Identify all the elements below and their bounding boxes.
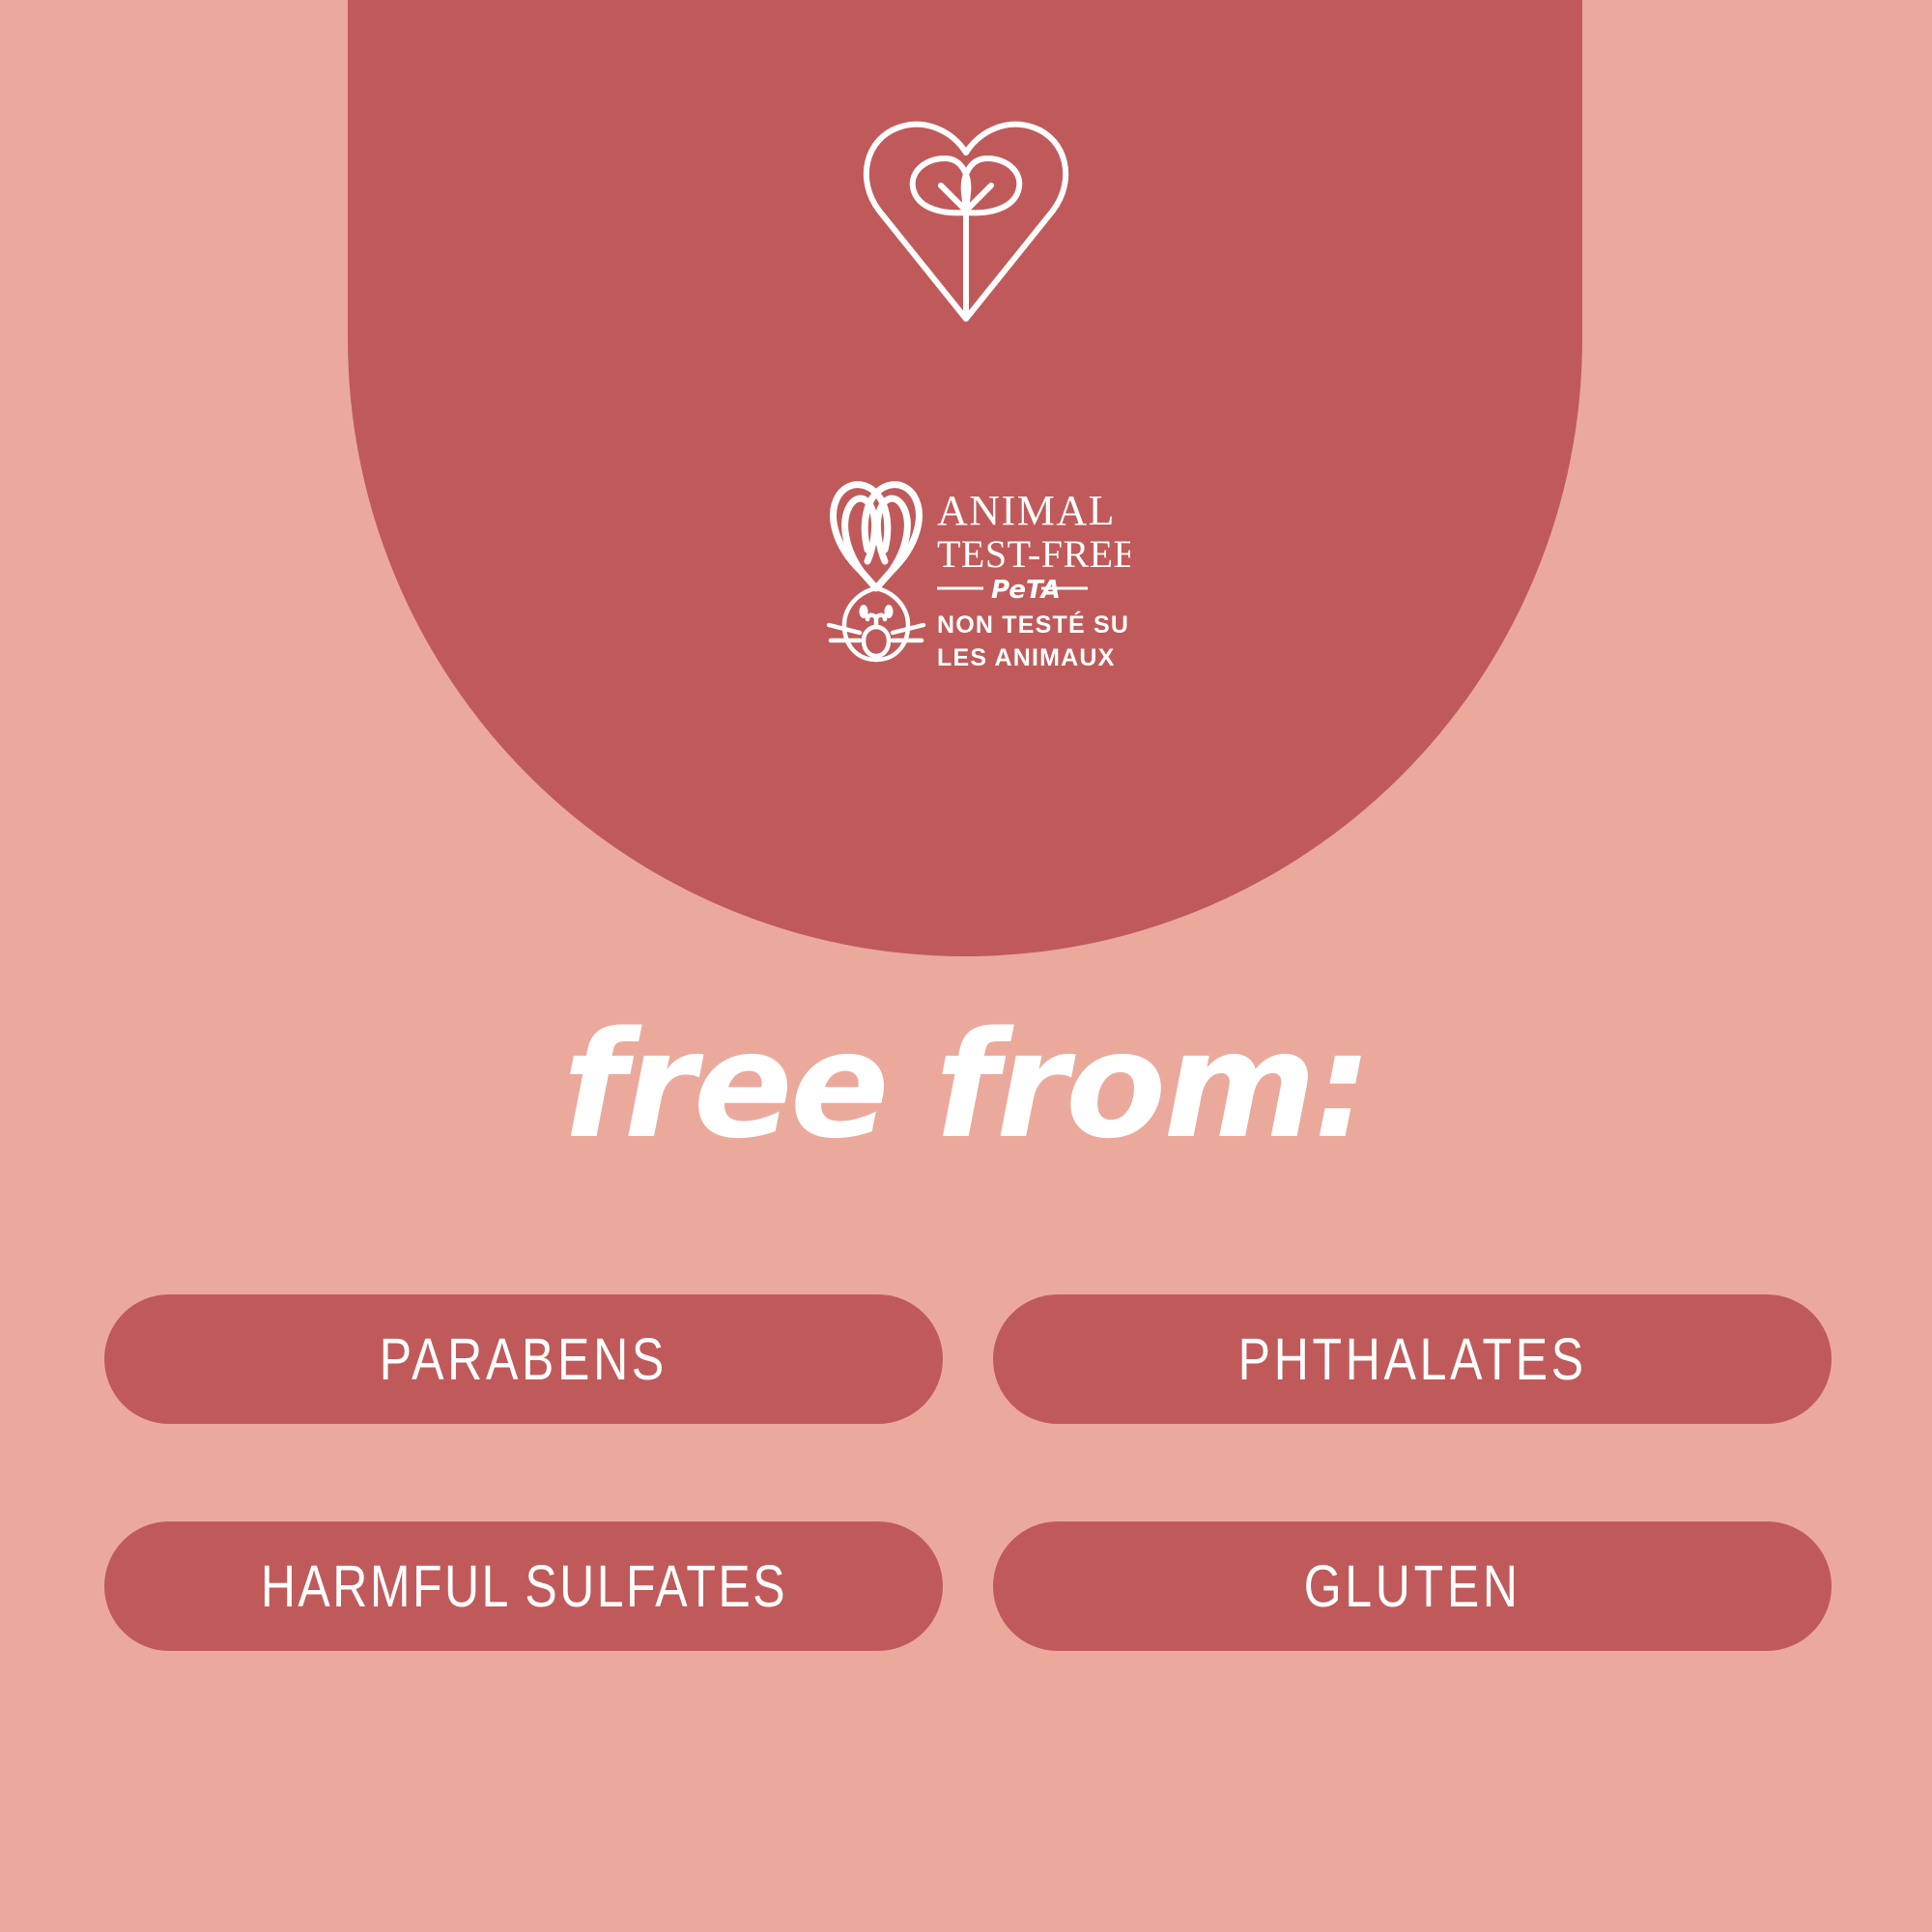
svg-text:TEST-FREE: TEST-FREE <box>937 532 1130 576</box>
svg-text:ANIMAL: ANIMAL <box>937 487 1116 534</box>
svg-text:NON TESTÉ SUR: NON TESTÉ SUR <box>937 611 1130 639</box>
free-from-pill-label: GLUTEN <box>1303 1552 1520 1620</box>
page-title: free from: <box>0 1012 1932 1159</box>
free-from-pill-label: PARABENS <box>380 1325 668 1393</box>
free-from-list: PARABENS PHTHALATES HARMFUL SULFATES GLU… <box>104 1294 1832 1651</box>
heart-with-leaf-sprout-icon <box>850 97 1082 328</box>
free-from-pill-parabens[interactable]: PARABENS <box>104 1294 943 1424</box>
free-from-pill-harmful-sulfates[interactable]: HARMFUL SULFATES <box>104 1521 943 1651</box>
free-from-pill-phthalates[interactable]: PHTHALATES <box>993 1294 1832 1424</box>
free-from-pill-gluten[interactable]: GLUTEN <box>993 1521 1832 1651</box>
free-from-pill-label: PHTHALATES <box>1237 1325 1586 1393</box>
svg-text:PeTA: PeTA <box>991 576 1061 605</box>
free-from-pill-label: HARMFUL SULFATES <box>260 1552 786 1620</box>
svg-text:LES ANIMAUX: LES ANIMAUX <box>937 644 1116 671</box>
peta-animal-test-free-badge: ANIMAL TEST-FREE PeTA NON TESTÉ SUR LES … <box>802 470 1130 679</box>
product-claims-graphic: ANIMAL TEST-FREE PeTA NON TESTÉ SUR LES … <box>0 0 1932 1932</box>
